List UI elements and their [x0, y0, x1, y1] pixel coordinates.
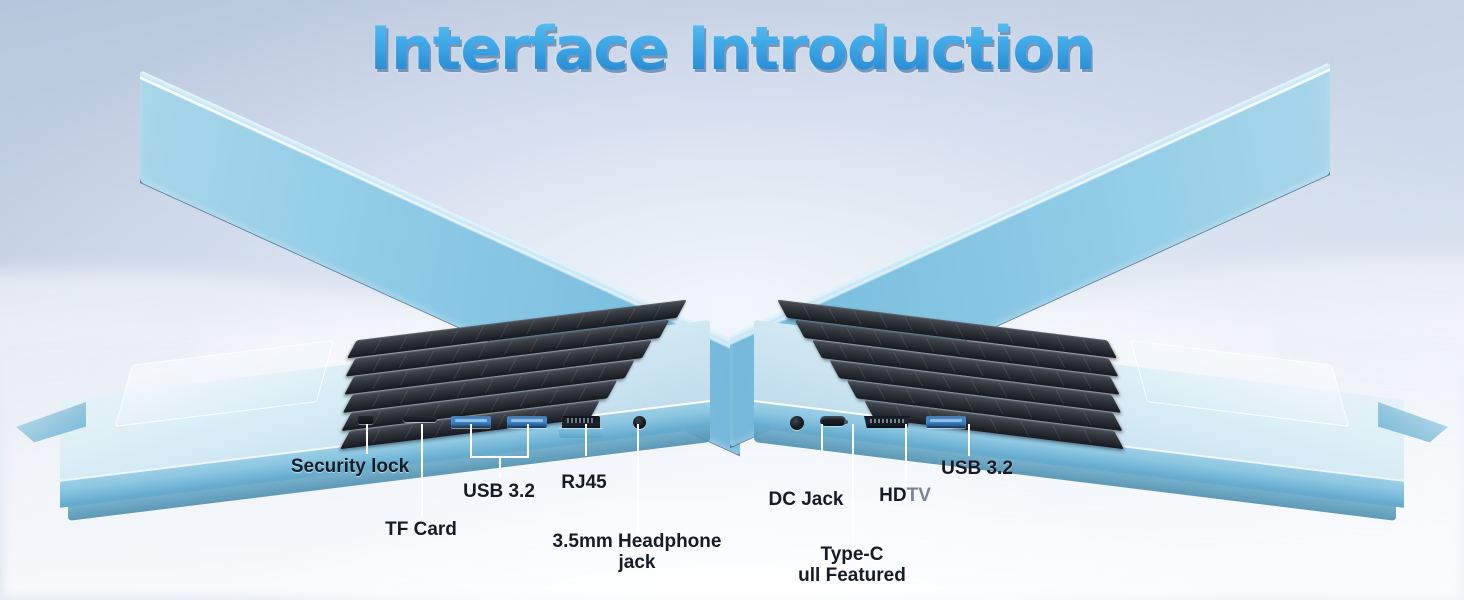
key-separator	[577, 314, 586, 328]
key-separator	[952, 341, 961, 355]
key-separator	[582, 331, 591, 345]
dc-jack-icon	[790, 416, 804, 430]
label-hdtv: HDTV	[879, 485, 931, 506]
key-separator	[508, 359, 517, 373]
key-separator	[854, 311, 863, 325]
label-hdtv-dim: TV	[907, 485, 931, 506]
leader-hdtv	[905, 424, 907, 480]
label-rj45: RJ45	[561, 472, 606, 493]
key-separator	[1083, 393, 1092, 407]
key-separator	[886, 369, 895, 383]
key-separator	[999, 383, 1008, 397]
key-separator	[1004, 348, 1013, 362]
key-separator	[481, 362, 490, 376]
key-separator	[429, 386, 438, 400]
key-separator	[858, 366, 867, 380]
key-separator	[926, 338, 935, 352]
key-separator	[942, 376, 951, 390]
label-type-c: Type-Cull Featured	[798, 544, 906, 587]
rj45-flap-icon	[559, 428, 603, 438]
key-separator	[475, 327, 484, 341]
key-separator	[530, 338, 539, 352]
key-separator	[526, 320, 535, 334]
hdmi-port-icon	[864, 416, 910, 428]
key-separator	[899, 335, 908, 349]
key-separator	[1029, 369, 1038, 383]
key-separator	[562, 352, 571, 366]
right-port-strip	[774, 408, 1134, 438]
key-separator	[513, 376, 522, 390]
lock-slot-icon	[358, 416, 373, 424]
usb-port-icon	[926, 416, 966, 428]
key-separator	[980, 327, 989, 341]
key-separator	[372, 375, 381, 389]
key-separator	[803, 305, 812, 319]
key-separator	[1082, 339, 1091, 353]
key-separator	[424, 333, 433, 347]
label-security-lock: Security lock	[291, 456, 409, 477]
key-separator	[372, 393, 381, 407]
key-separator	[921, 355, 930, 369]
key-separator	[535, 355, 544, 369]
key-separator	[1027, 386, 1036, 400]
status-led-icon	[844, 420, 848, 424]
key-separator	[616, 345, 625, 359]
leader-headphone	[637, 424, 639, 532]
key-separator	[608, 328, 617, 342]
key-separator	[653, 305, 662, 319]
key-separator	[866, 349, 875, 363]
leader-usb-stem	[499, 456, 501, 478]
label-type-c-line1: Type-C	[821, 544, 884, 565]
key-separator	[893, 352, 902, 366]
key-separator	[873, 331, 882, 345]
key-separator	[1031, 333, 1040, 347]
key-separator	[427, 369, 436, 383]
headphone-jack-icon	[633, 416, 646, 429]
key-separator	[504, 341, 513, 355]
key-separator	[635, 325, 644, 339]
key-separator	[1056, 354, 1065, 368]
label-headphone-jack: 3.5mm Headphone jack	[553, 531, 722, 574]
leader-dc-jack	[821, 424, 823, 456]
key-separator	[373, 339, 382, 353]
interface-introduction-banner: Interface Introduction Security loc	[0, 0, 1464, 600]
leader-usb-right	[968, 424, 970, 456]
key-separator	[948, 359, 957, 373]
key-separator	[549, 390, 558, 404]
usb-c-port-icon	[820, 416, 846, 426]
key-separator	[451, 348, 460, 362]
leader-security-lock	[366, 424, 368, 454]
key-separator	[1056, 372, 1065, 386]
key-separator	[399, 336, 408, 350]
key-separator	[1002, 365, 1011, 379]
key-separator	[556, 335, 565, 349]
key-separator	[839, 345, 848, 359]
leader-tf-card	[421, 424, 423, 517]
key-separator	[485, 379, 494, 393]
key-separator	[847, 328, 856, 342]
key-separator	[879, 314, 888, 328]
key-separator	[906, 390, 915, 404]
key-separator	[373, 357, 382, 371]
left-port-strip	[330, 408, 690, 438]
key-separator	[821, 325, 830, 339]
key-separator	[457, 383, 466, 397]
key-separator	[955, 324, 964, 338]
key-separator	[589, 349, 598, 363]
key-separator	[598, 366, 607, 380]
label-usb-3-2-left: USB 3.2	[463, 481, 535, 502]
key-separator	[1030, 351, 1039, 365]
tf-card-slot-icon	[403, 416, 437, 422]
key-separator	[627, 308, 636, 322]
key-separator	[478, 344, 487, 358]
key-separator	[877, 386, 886, 400]
key-separator	[936, 393, 945, 407]
leader-usb-2	[527, 424, 529, 456]
key-separator	[930, 320, 939, 334]
key-separator	[551, 317, 560, 331]
key-separator	[1083, 375, 1092, 389]
key-separator	[450, 330, 459, 344]
key-separator	[425, 351, 434, 365]
leader-type-c	[852, 424, 854, 541]
key-separator	[500, 324, 509, 338]
key-separator	[399, 372, 408, 386]
label-type-c-line2: ull Featured	[798, 565, 906, 586]
key-separator	[520, 393, 529, 407]
key-separator	[400, 390, 409, 404]
key-separator	[975, 362, 984, 376]
key-separator	[579, 386, 588, 400]
label-hdtv-bold: HD	[879, 485, 906, 506]
key-separator	[454, 365, 463, 379]
label-tf-card: TF Card	[385, 519, 457, 540]
key-separator	[914, 372, 923, 386]
key-separator	[1057, 336, 1066, 350]
key-separator	[828, 308, 837, 322]
label-dc-jack: DC Jack	[769, 489, 844, 510]
key-separator	[570, 369, 579, 383]
key-separator	[971, 379, 980, 393]
leader-rj45	[585, 424, 587, 456]
leader-usb-1	[470, 424, 472, 456]
key-separator	[904, 317, 913, 331]
key-separator	[978, 344, 987, 358]
key-separator	[399, 354, 408, 368]
key-separator	[602, 311, 611, 325]
key-separator	[1055, 390, 1064, 404]
label-usb-3-2-right: USB 3.2	[941, 458, 1013, 479]
key-separator	[1006, 330, 1015, 344]
key-separator	[1083, 357, 1092, 371]
key-separator	[541, 372, 550, 386]
